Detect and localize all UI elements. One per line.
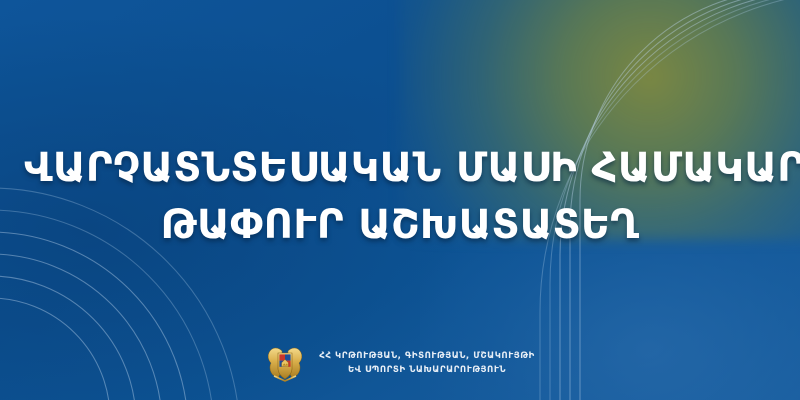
page-title: ՎԱՐՉԱՏՆՏԵՍԱԿԱՆ ՄԱՍԻ ՀԱՄԱԿԱՐԳՈՂԻ ԹԱՓՈՒՐ Ա… bbox=[0, 140, 800, 254]
ministry-lockup: ՀՀ ԿՐԹՈՒԹՅԱՆ, ԳԻՏՈՒԹՅԱՆ, ՄՇԱԿՈՒՅԹԻ ԵՎ ՍՊ… bbox=[0, 342, 800, 386]
ministry-name-line-2: ԵՎ ՍՊՈՐՏԻ ՆԱԽԱՐԱՐՈՒԹՅՈՒՆ bbox=[319, 364, 535, 378]
announcement-banner: ՎԱՐՉԱՏՆՏԵՍԱԿԱՆ ՄԱՍԻ ՀԱՄԱԿԱՐԳՈՂԻ ԹԱՓՈՒՐ Ա… bbox=[0, 0, 800, 400]
ministry-name-line-1: ՀՀ ԿՐԹՈՒԹՅԱՆ, ԳԻՏՈՒԹՅԱՆ, ՄՇԱԿՈՒՅԹԻ bbox=[319, 350, 535, 364]
ministry-name: ՀՀ ԿՐԹՈՒԹՅԱՆ, ԳԻՏՈՒԹՅԱՆ, ՄՇԱԿՈՒՅԹԻ ԵՎ ՍՊ… bbox=[319, 350, 535, 378]
headline-line-1: ՎԱՐՉԱՏՆՏԵՍԱԿԱՆ ՄԱՍԻ ՀԱՄԱԿԱՐԳՈՂԻ bbox=[24, 140, 776, 197]
headline-line-2: ԹԱՓՈՒՐ ԱՇԽԱՏԱՏԵՂ bbox=[24, 197, 776, 254]
armenia-coat-of-arms-icon bbox=[265, 342, 305, 386]
